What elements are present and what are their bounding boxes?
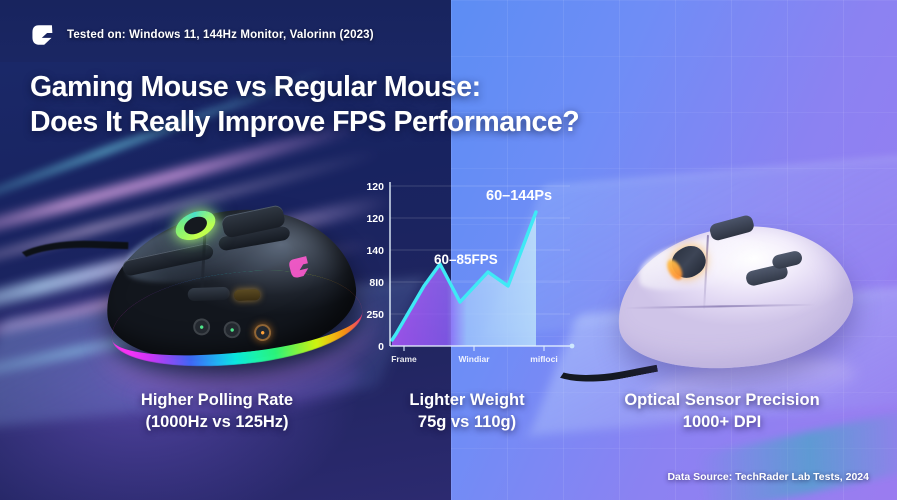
chart-ylabel-5: 0 bbox=[378, 341, 384, 353]
page-title-line-1: Gaming Mouse vs Regular Mouse: bbox=[30, 70, 579, 105]
chart-annotation-gaming: 60–144Ps bbox=[486, 188, 552, 204]
chart-ylabel-3: 8I0 bbox=[369, 277, 384, 289]
brand-row: Tested on: Windows 11, 144Hz Monitor, Va… bbox=[30, 22, 579, 48]
caption-weight-line-2: 75g vs 110g) bbox=[372, 411, 562, 433]
chart-ylabel-0: 120 bbox=[366, 181, 384, 193]
infographic-canvas: ● ● ● Tested on: Windows 11, 144Hz Monit… bbox=[0, 0, 897, 500]
caption-weight: Lighter Weight 75g vs 110g) bbox=[372, 390, 562, 433]
gaming-shield-logo-icon bbox=[30, 22, 56, 48]
caption-polling-rate-line-2: (1000Hz vs 125Hz) bbox=[62, 411, 372, 433]
caption-weight-line-1: Lighter Weight bbox=[372, 390, 562, 411]
tested-on-label: Tested on: Windows 11, 144Hz Monitor, Va… bbox=[67, 29, 374, 41]
chart-ylabel-2: 140 bbox=[366, 245, 384, 257]
caption-sensor-line-1: Optical Sensor Precision bbox=[562, 390, 882, 411]
caption-sensor-line-2: 1000+ DPI bbox=[562, 411, 882, 433]
gaming-mouse-mini-button bbox=[234, 289, 260, 301]
header: Tested on: Windows 11, 144Hz Monitor, Va… bbox=[30, 22, 579, 141]
chart-svg: 120 120 140 8I0 250 0 Frame Windiar mifl… bbox=[348, 168, 580, 364]
caption-polling-rate-line-1: Higher Polling Rate bbox=[62, 390, 372, 411]
data-source-label: Data Source: TechRader Lab Tests, 2024 bbox=[667, 471, 869, 483]
chart-x-axis-end-dot bbox=[570, 344, 575, 349]
chart-ylabel-4: 250 bbox=[366, 309, 384, 321]
chart-area-sheen bbox=[392, 212, 536, 346]
page-title-line-2: Does It Really Improve FPS Performance? bbox=[30, 105, 579, 140]
page-title: Gaming Mouse vs Regular Mouse: Does It R… bbox=[30, 70, 579, 141]
chart-xlabel-0: Frame bbox=[391, 354, 417, 364]
gaming-mouse-side-button bbox=[188, 287, 230, 301]
caption-polling-rate: Higher Polling Rate (1000Hz vs 125Hz) bbox=[62, 390, 372, 433]
chart-annotation-regular: 60–85FPS bbox=[434, 252, 498, 267]
fps-area-chart: 120 120 140 8I0 250 0 Frame Windiar mifl… bbox=[348, 168, 580, 364]
chart-xlabel-1: Windiar bbox=[458, 354, 490, 364]
gaming-mouse-image: ● ● ● bbox=[68, 173, 379, 417]
chart-ylabel-1: 120 bbox=[366, 213, 384, 225]
caption-sensor: Optical Sensor Precision 1000+ DPI bbox=[562, 390, 882, 433]
chart-xlabel-2: mifloci bbox=[530, 354, 557, 364]
